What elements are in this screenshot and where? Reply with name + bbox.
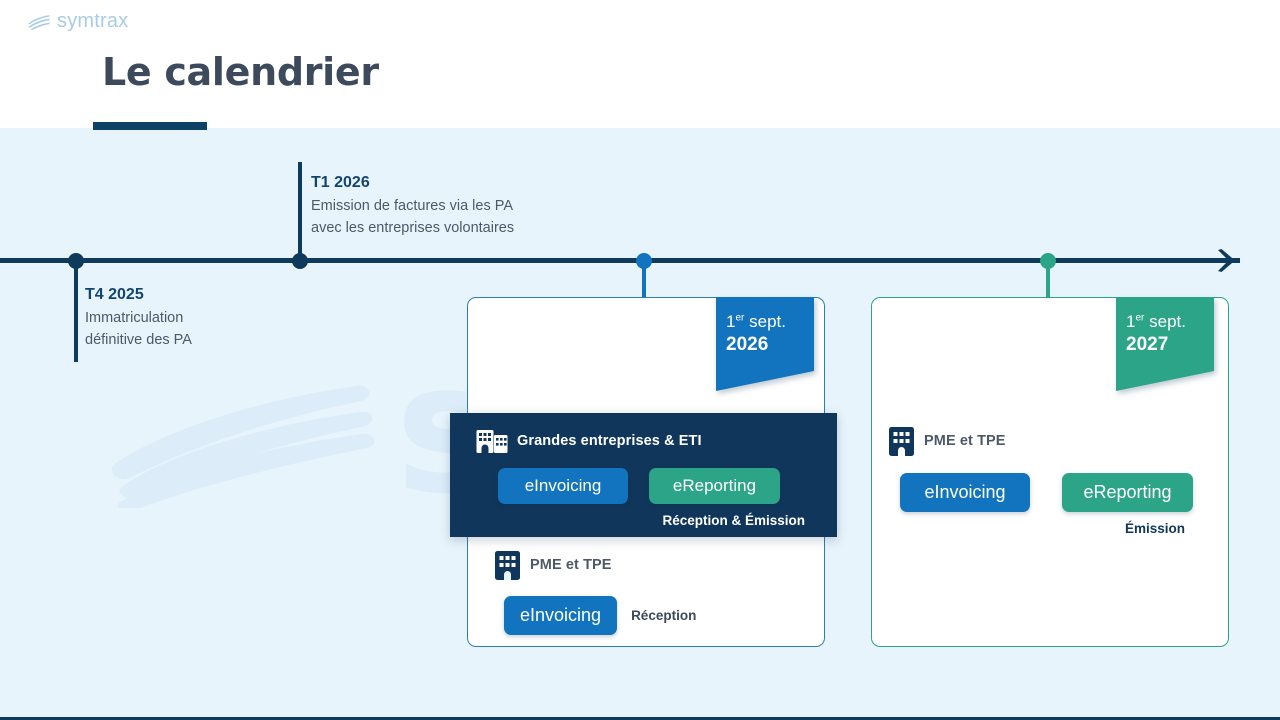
ribbon-year: 2027 (1126, 334, 1214, 356)
badge-einvoicing[interactable]: eInvoicing (498, 468, 628, 504)
mode-label: Réception & Émission (450, 504, 837, 528)
date-ribbon-2027-text: 1er sept. 2027 (1116, 298, 1214, 356)
milestone-card-2027[interactable]: 1er sept. 2027 PME et TPE eInvoicing eRe… (871, 297, 1229, 647)
timeline-stem-t4-2025 (74, 261, 78, 362)
ribbon-ordinal: er (735, 312, 744, 323)
badge-einvoicing[interactable]: eInvoicing (900, 473, 1030, 512)
mode-label: Réception (631, 608, 696, 623)
two-buildings-icon (476, 428, 508, 454)
milestone-description: Emission de factures via les PA avec les… (311, 195, 641, 240)
group-header: PME et TPE (494, 549, 800, 581)
group-pme-tpe-2027: PME et TPE eInvoicing eReporting Émissio… (888, 425, 1218, 536)
page-title: Le calendrier (102, 50, 379, 94)
ribbon-year: 2026 (726, 334, 814, 356)
timeline-label-t4-2025: T4 2025 Immatriculation définitive des P… (85, 285, 345, 352)
timeline-dot-t1-2026 (292, 253, 308, 269)
date-ribbon-2026-text: 1er sept. 2026 (716, 298, 814, 356)
group-name: PME et TPE (924, 433, 1006, 449)
group-name: PME et TPE (530, 557, 612, 573)
ribbon-month: sept. (749, 312, 786, 331)
brand-logo: symtrax (28, 11, 128, 31)
ribbon-ordinal: er (1135, 312, 1144, 323)
group-name: Grandes entreprises & ETI (517, 433, 702, 449)
group-header: Grandes entreprises & ETI (450, 413, 837, 454)
timeline-stem-t1-2026 (298, 162, 302, 262)
badge-ereporting[interactable]: eReporting (649, 468, 780, 504)
brand-name: symtrax (57, 11, 128, 31)
badge-row: eInvoicing Réception (494, 596, 800, 635)
waves-icon (28, 12, 50, 30)
milestone-title: T4 2025 (85, 285, 345, 305)
badge-einvoicing[interactable]: eInvoicing (504, 596, 617, 635)
milestone-description: Immatriculation définitive des PA (85, 307, 345, 352)
badge-row: eInvoicing eReporting (888, 473, 1218, 512)
page-header: symtrax Le calendrier (0, 0, 1280, 128)
mode-label: Émission (888, 512, 1218, 536)
building-icon (888, 425, 915, 457)
ribbon-month: sept. (1149, 312, 1186, 331)
timeline-label-t1-2026: T1 2026 Emission de factures via les PA … (311, 173, 641, 240)
waves-watermark-icon (110, 368, 410, 508)
group-header: PME et TPE (888, 425, 1218, 457)
badge-ereporting[interactable]: eReporting (1062, 473, 1193, 512)
building-icon (494, 549, 521, 581)
timeline-dot-sept-2027 (1040, 253, 1056, 269)
title-underline (93, 122, 207, 130)
group-grandes-entreprises: Grandes entreprises & ETI eInvoicing eRe… (450, 413, 837, 537)
timeline-dot-t4-2025 (68, 253, 84, 269)
timeline-dot-sept-2026 (636, 253, 652, 269)
ribbon-day-month: 1er sept. (726, 312, 814, 332)
milestone-title: T1 2026 (311, 173, 641, 193)
group-pme-tpe-2026: PME et TPE eInvoicing Réception (494, 549, 800, 635)
ribbon-day-month: 1er sept. (1126, 312, 1214, 332)
arrow-right-icon (1212, 249, 1236, 272)
badge-row: eInvoicing eReporting (450, 468, 837, 504)
